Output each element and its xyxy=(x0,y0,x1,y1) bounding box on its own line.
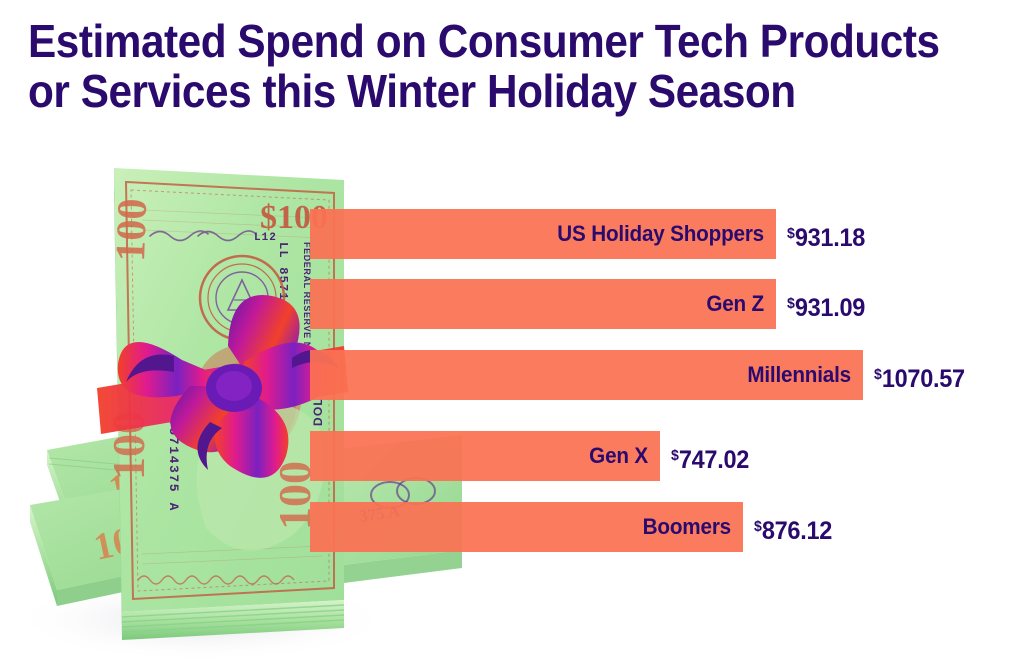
bar-label: Millennials xyxy=(352,350,851,400)
bar-row: Millennials$1070.57 xyxy=(0,350,1024,400)
value-number: 747.02 xyxy=(679,446,749,474)
bar-row: Gen Z$931.09 xyxy=(0,279,1024,329)
value-number: 876.12 xyxy=(762,517,832,545)
bar-label: US Holiday Shoppers xyxy=(347,209,764,259)
value-number: 1070.57 xyxy=(882,365,965,393)
bar-value: $931.09 xyxy=(787,279,865,329)
chart-title-line-2: or Services this Winter Holiday Season xyxy=(28,66,930,116)
bar-value: $931.18 xyxy=(787,209,865,259)
bar-row: Gen X$747.02 xyxy=(0,431,1024,481)
value-number: 931.09 xyxy=(795,294,865,322)
bar-label: Gen X xyxy=(340,431,648,481)
chart-title-line-1: Estimated Spend on Consumer Tech Product… xyxy=(28,16,930,66)
bar-value: $1070.57 xyxy=(874,350,965,400)
chart-title: Estimated Spend on Consumer Tech Product… xyxy=(28,16,1008,116)
bar-row: US Holiday Shoppers$931.18 xyxy=(0,209,1024,259)
bar-value: $747.02 xyxy=(671,431,749,481)
value-number: 931.18 xyxy=(795,224,865,252)
infographic-canvas: 100 100 375 A xyxy=(0,0,1024,662)
bar-row: Boomers$876.12 xyxy=(0,502,1024,552)
bar-value: $876.12 xyxy=(754,502,832,552)
bar-label: Boomers xyxy=(345,502,731,552)
bar-label: Gen Z xyxy=(347,279,764,329)
